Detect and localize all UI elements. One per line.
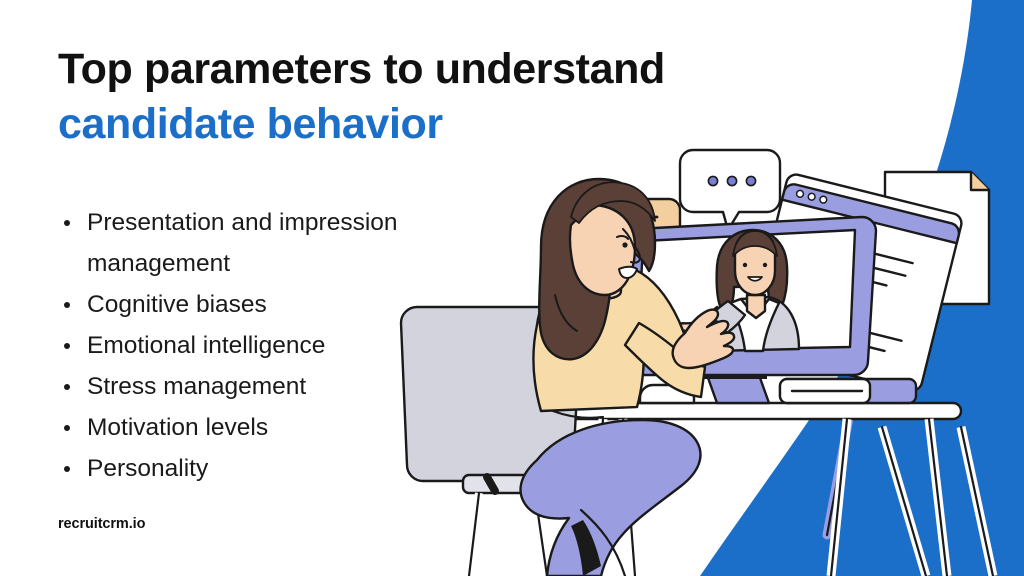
slide-canvas: Top parameters to understand candidate b…: [0, 0, 1024, 576]
list-item-label: Stress management: [87, 373, 306, 400]
list-item-label: Cognitive biases: [87, 291, 267, 318]
keyboard: [780, 379, 916, 403]
list-item-label: Motivation levels: [87, 414, 268, 441]
list-item-label: Emotional intelligence: [87, 332, 325, 359]
video-interview-illustration: [395, 135, 1015, 576]
title-line-1: Top parameters to understand: [58, 45, 665, 93]
list-item-label: Presentation and impression management: [87, 209, 398, 277]
list-item-label: Personality: [87, 455, 208, 482]
speech-bubble-dots: [680, 150, 780, 230]
brand-logo-text: recruitcrm.io: [58, 516, 145, 532]
